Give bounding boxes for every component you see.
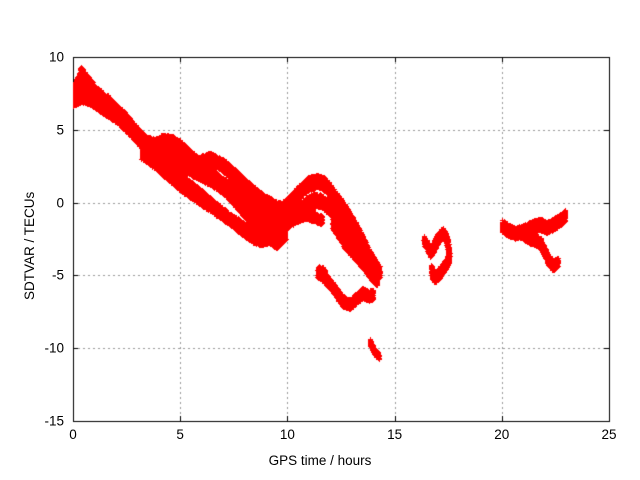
y-tick-label: 10	[16, 50, 64, 65]
y-tick-label: 5	[16, 122, 64, 137]
x-tick-label: 20	[494, 427, 509, 442]
y-tick-label: -15	[16, 414, 64, 429]
x-tick-label: 15	[387, 427, 402, 442]
x-tick-label: 0	[69, 427, 77, 442]
x-tick-label: 25	[601, 427, 616, 442]
x-tick-label: 10	[280, 427, 295, 442]
y-tick-label: -5	[16, 268, 64, 283]
chart-figure: Day 216 of 2024, Sidereal Day-to-day VTE…	[0, 0, 640, 480]
x-axis-label: GPS time / hours	[0, 453, 640, 468]
y-tick-label: -10	[16, 341, 64, 356]
scatter-plot-canvas	[0, 0, 640, 480]
y-tick-label: 0	[16, 195, 64, 210]
x-tick-label: 5	[176, 427, 184, 442]
